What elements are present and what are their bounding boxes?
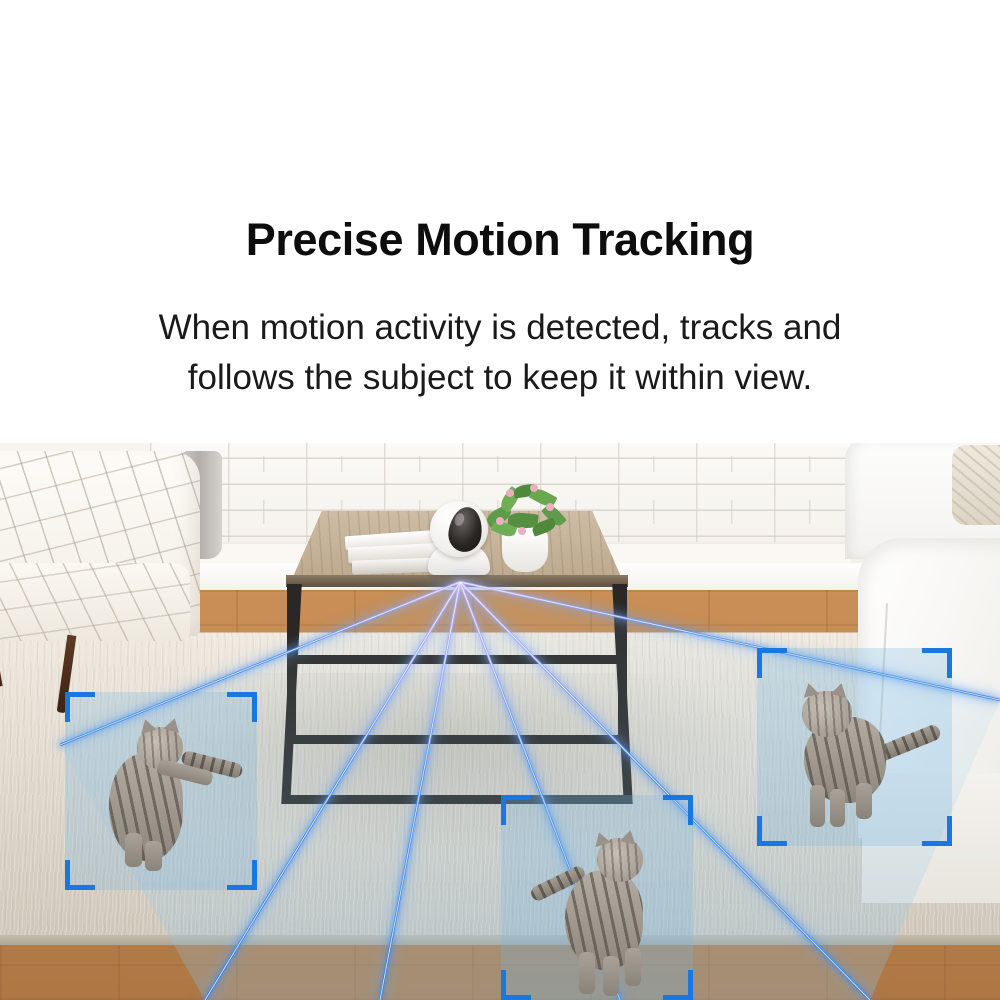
bracket-top-left bbox=[757, 648, 787, 678]
header-section: Precise Motion Tracking When motion acti… bbox=[0, 0, 1000, 443]
tracking-box-bottom[interactable] bbox=[501, 795, 693, 1000]
sofa-pillow bbox=[952, 445, 1000, 525]
bracket-bottom-left bbox=[65, 860, 95, 890]
page-subtitle: When motion activity is detected, tracks… bbox=[0, 303, 1000, 403]
coffee-table-frame bbox=[287, 584, 627, 744]
bracket-top-right bbox=[663, 795, 693, 825]
rug-edge bbox=[0, 935, 1000, 945]
subtitle-line-2: follows the subject to keep it within vi… bbox=[0, 353, 1000, 403]
bracket-bottom-right bbox=[663, 970, 693, 1000]
page-title: Precise Motion Tracking bbox=[0, 214, 1000, 266]
bracket-bottom-right bbox=[922, 816, 952, 846]
bracket-bottom-left bbox=[501, 970, 531, 1000]
armchair-seat bbox=[0, 563, 190, 641]
bracket-top-left bbox=[501, 795, 531, 825]
bracket-top-right bbox=[227, 692, 257, 722]
cat-right bbox=[790, 675, 935, 835]
bracket-bottom-right bbox=[227, 860, 257, 890]
bracket-top-left bbox=[65, 692, 95, 722]
plant-leaves bbox=[484, 483, 570, 539]
cat-bottom bbox=[535, 830, 675, 1000]
tracking-box-left[interactable] bbox=[65, 692, 257, 890]
product-feature-card: Precise Motion Tracking When motion acti… bbox=[0, 0, 1000, 1000]
bracket-top-right bbox=[922, 648, 952, 678]
tracking-box-right[interactable] bbox=[757, 648, 952, 846]
bracket-bottom-left bbox=[757, 816, 787, 846]
subtitle-line-1: When motion activity is detected, tracks… bbox=[0, 303, 1000, 353]
scene-photo bbox=[0, 443, 1000, 1000]
cat-left bbox=[95, 715, 240, 870]
coffee-table-rail bbox=[293, 655, 621, 664]
